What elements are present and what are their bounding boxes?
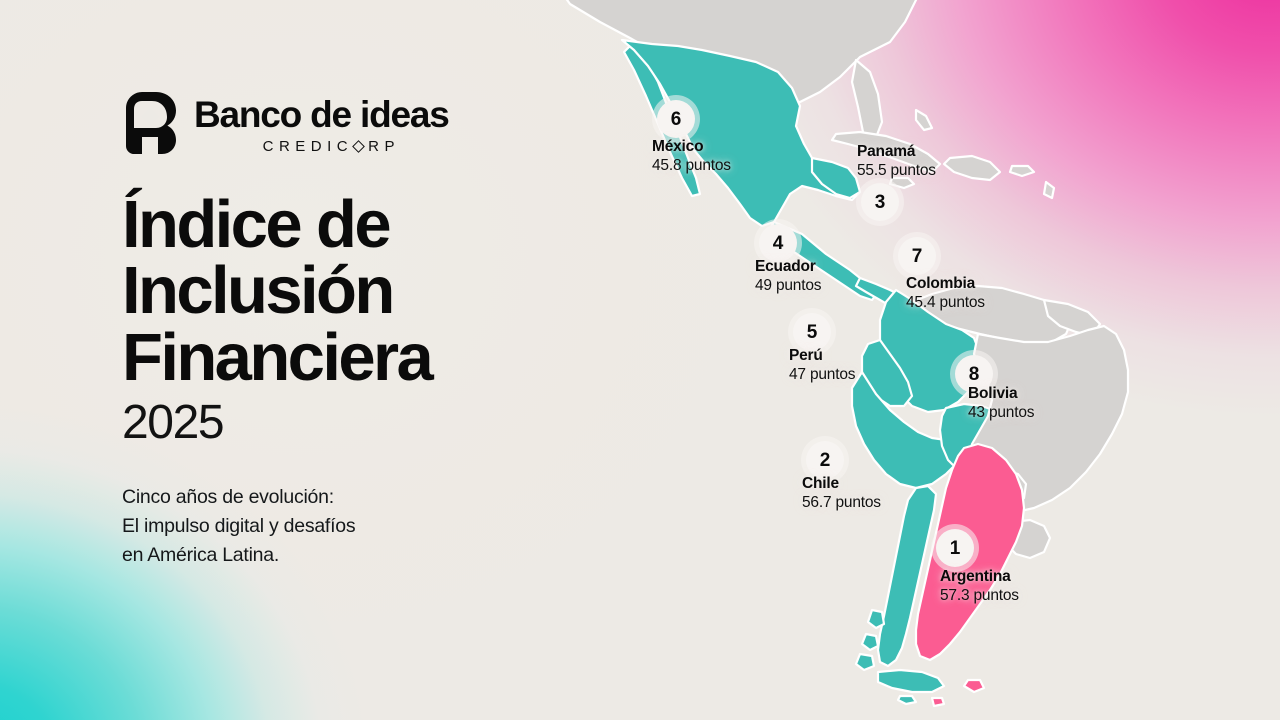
- region-yucatan: [812, 158, 860, 198]
- region-patagonia-islands-1: [862, 634, 878, 650]
- rank-number-colombia: 7: [898, 237, 936, 275]
- country-points-chile: 56.7 puntos: [802, 494, 881, 513]
- country-name-chile: Chile: [802, 475, 881, 494]
- title-year: 2025: [122, 399, 592, 447]
- title-line-3: Financiera: [122, 325, 592, 391]
- rank-number-chile: 2: [806, 441, 844, 479]
- rank-number-peru: 5: [793, 313, 831, 351]
- country-name-mexico: México: [652, 138, 731, 157]
- region-malvinas: [964, 680, 984, 692]
- credicorp-text-post: RP: [368, 139, 400, 154]
- country-name-argentina: Argentina: [940, 568, 1019, 587]
- country-name-colombia: Colombia: [906, 275, 985, 294]
- country-name-bolivia: Bolivia: [968, 385, 1034, 404]
- country-us-florida: [852, 60, 882, 140]
- country-label-argentina[interactable]: Argentina57.3 puntos: [940, 568, 1019, 606]
- title-line-2: Inclusión: [122, 258, 592, 324]
- brand-name: Banco de ideas: [194, 96, 449, 133]
- rank-number-argentina: 1: [936, 529, 974, 567]
- country-points-argentina: 57.3 puntos: [940, 587, 1019, 606]
- content-column: Banco de ideas CREDIC RP Índice de Inclu…: [122, 92, 592, 570]
- credicorp-diamond-icon: [352, 140, 365, 153]
- rank-badge-panama[interactable]: 3: [861, 183, 899, 221]
- subtitle-line-3: en América Latina.: [122, 541, 592, 570]
- country-label-peru[interactable]: Perú47 puntos: [789, 347, 855, 385]
- rank-badge-peru[interactable]: 5: [793, 313, 831, 351]
- country-points-peru: 47 puntos: [789, 366, 855, 385]
- rank-badge-mexico[interactable]: 6: [657, 100, 695, 138]
- country-label-mexico[interactable]: México45.8 puntos: [652, 138, 731, 176]
- country-points-panama: 55.5 puntos: [857, 162, 936, 181]
- region-cape-horn: [898, 696, 916, 704]
- rank-badge-argentina[interactable]: 1: [936, 529, 974, 567]
- brand-lockup: Banco de ideas CREDIC RP: [122, 92, 592, 154]
- country-label-chile[interactable]: Chile56.7 puntos: [802, 475, 881, 513]
- page-title: Índice de Inclusión Financiera: [122, 192, 592, 391]
- country-name-peru: Perú: [789, 347, 855, 366]
- title-line-1: Índice de: [122, 192, 592, 258]
- credicorp-text-pre: CREDIC: [263, 139, 354, 154]
- subtitle-line-2: El impulso digital y desafíos: [122, 512, 592, 541]
- country-points-mexico: 45.8 puntos: [652, 157, 731, 176]
- infographic-canvas: Banco de ideas CREDIC RP Índice de Inclu…: [0, 0, 1280, 720]
- credicorp-wordmark: CREDIC RP: [214, 139, 449, 154]
- region-patagonia-islands-2: [856, 654, 874, 670]
- country-name-panama: Panamá: [857, 143, 936, 162]
- subtitle-line-1: Cinco años de evolución:: [122, 483, 592, 512]
- rank-badge-ecuador[interactable]: 4: [759, 224, 797, 262]
- rank-number-mexico: 6: [657, 100, 695, 138]
- country-label-panama[interactable]: Panamá55.5 puntos: [857, 143, 936, 181]
- country-puerto-rico: [1010, 166, 1034, 176]
- region-chiloe: [868, 610, 884, 628]
- subtitle: Cinco años de evolución: El impulso digi…: [122, 483, 592, 570]
- country-label-colombia[interactable]: Colombia45.4 puntos: [906, 275, 985, 313]
- brand-text-block: Banco de ideas CREDIC RP: [194, 92, 449, 154]
- rank-badge-colombia[interactable]: 7: [898, 237, 936, 275]
- region-isla-argentina-sur: [932, 698, 944, 706]
- country-points-bolivia: 43 puntos: [968, 404, 1034, 423]
- country-label-ecuador[interactable]: Ecuador49 puntos: [755, 258, 821, 296]
- rank-number-ecuador: 4: [759, 224, 797, 262]
- region-tierra-del-fuego: [878, 670, 944, 692]
- banco-de-ideas-logo-icon: [122, 92, 178, 154]
- country-points-ecuador: 49 puntos: [755, 277, 821, 296]
- country-bahamas: [916, 110, 932, 130]
- country-label-bolivia[interactable]: Bolivia43 puntos: [968, 385, 1034, 423]
- rank-number-panama: 3: [861, 183, 899, 221]
- country-points-colombia: 45.4 puntos: [906, 294, 985, 313]
- country-name-ecuador: Ecuador: [755, 258, 821, 277]
- rank-badge-chile[interactable]: 2: [806, 441, 844, 479]
- country-lesser-antilles: [1044, 182, 1054, 198]
- country-hispaniola: [944, 156, 1000, 180]
